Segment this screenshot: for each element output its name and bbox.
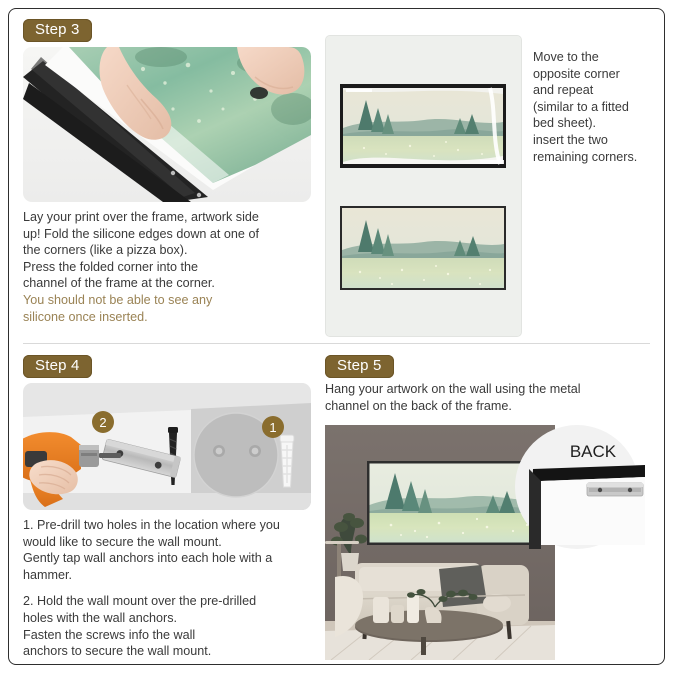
- step-3-instructions-highlight: You should not be able to see any silico…: [23, 292, 315, 325]
- step-3-instructions: Lay your print over the frame, artwork s…: [23, 209, 315, 325]
- instruction-sheet: Step 3: [8, 8, 665, 665]
- step-5-instructions: Hang your artwork on the wall using the …: [325, 381, 645, 414]
- step-3-photo: [23, 47, 311, 202]
- back-detail-label-svg: BACK: [570, 442, 617, 461]
- step-5-badge: Step 5: [325, 355, 394, 378]
- step-3-badge: Step 3: [23, 19, 92, 42]
- step-5-photo: BACK: [325, 425, 654, 660]
- step-4-photo: 1: [23, 383, 311, 510]
- svg-text:2: 2: [99, 415, 106, 430]
- step-4-badge: Step 4: [23, 355, 92, 378]
- section-divider: [23, 343, 650, 344]
- step-4-instructions-part-1: 1. Pre-drill two holes in the location w…: [23, 517, 319, 583]
- step-3-instructions-main: Lay your print over the frame, artwork s…: [23, 209, 315, 292]
- step-5-badge-label: Step 5: [325, 355, 394, 378]
- step-3-side-note-text: Move to the opposite corner and repeat (…: [533, 49, 665, 165]
- step-3-image-panel: [325, 35, 522, 337]
- step-4-instructions: 1. Pre-drill two holes in the location w…: [23, 517, 319, 660]
- step-3-side-note: Move to the opposite corner and repeat (…: [533, 49, 665, 165]
- step-3-badge-label: Step 3: [23, 19, 92, 42]
- svg-text:1: 1: [269, 420, 276, 435]
- step-4-instructions-part-2: 2. Hold the wall mount over the pre-dril…: [23, 593, 319, 659]
- step-4-badge-label: Step 4: [23, 355, 92, 378]
- step-5-instructions-text: Hang your artwork on the wall using the …: [325, 381, 645, 414]
